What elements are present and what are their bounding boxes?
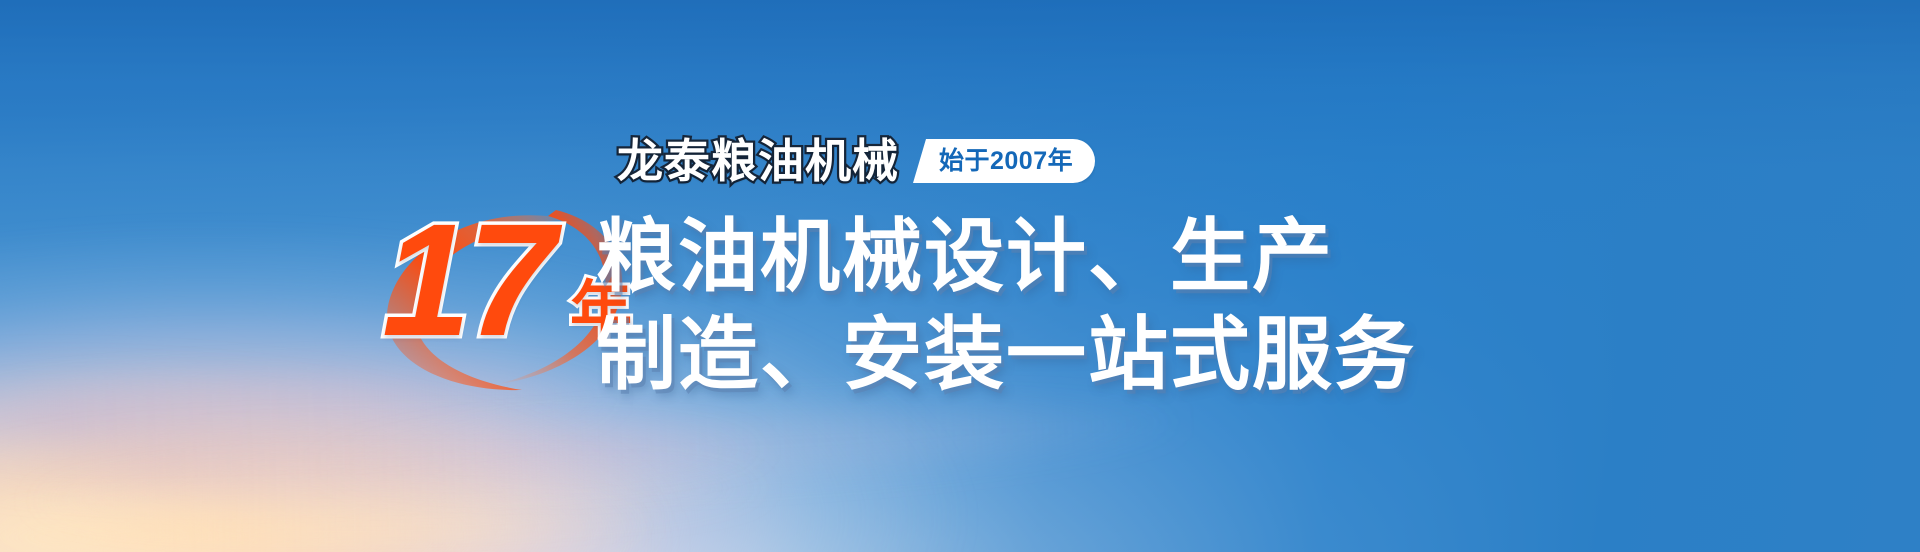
headline-line-1: 粮油机械设计、生产 — [596, 208, 1416, 306]
brand-name: 龙泰粮油机械 — [617, 138, 899, 184]
hero-banner: 龙泰粮油机械 始于2007年 — [0, 0, 1920, 552]
established-badge: 始于2007年 — [913, 139, 1095, 183]
banner-content: 龙泰粮油机械 始于2007年 — [0, 0, 1920, 552]
established-badge-label: 始于2007年 — [939, 149, 1073, 174]
headline: 粮油机械设计、生产 制造、安装一站式服务 — [596, 208, 1416, 403]
headline-line-2: 制造、安装一站式服务 — [596, 306, 1416, 404]
brand-lockup: 龙泰粮油机械 始于2007年 — [617, 138, 1095, 184]
anniversary-number: 17 — [382, 200, 552, 360]
anniversary-mark: 17 年 — [372, 198, 634, 394]
